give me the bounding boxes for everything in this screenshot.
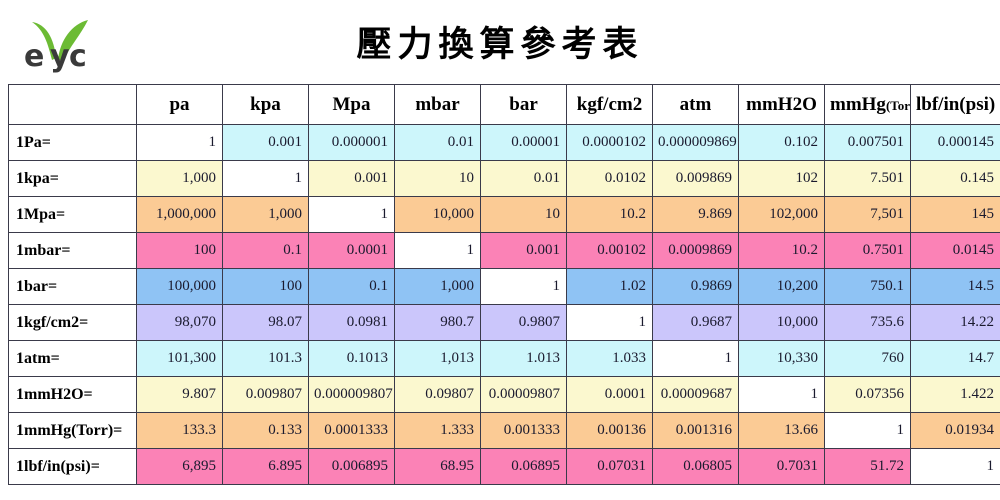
- table-cell: 0.0981: [309, 305, 395, 341]
- row-label: 1mbar=: [9, 233, 137, 269]
- table-cell: 0.0145: [911, 233, 1000, 269]
- table-cell: 101,300: [137, 341, 223, 377]
- table-cell: 14.5: [911, 269, 1000, 305]
- table-cell: 0.01: [481, 161, 567, 197]
- table-cell: 0.001333: [481, 413, 567, 449]
- column-header-pa: pa: [137, 85, 223, 125]
- row-label: 1Pa=: [9, 125, 137, 161]
- table-cell: 0.133: [223, 413, 309, 449]
- table-cell: 0.00102: [567, 233, 653, 269]
- table-cell: 0.06895: [481, 449, 567, 485]
- row-label: 1atm=: [9, 341, 137, 377]
- table-cell: 760: [825, 341, 911, 377]
- table-cell-identity: 1: [911, 449, 1000, 485]
- table-row: 1kgf/cm2=98,07098.070.0981980.70.980710.…: [9, 305, 1000, 341]
- table-cell: 10,000: [395, 197, 481, 233]
- column-header-mmhg-sub: (Torr): [886, 98, 911, 113]
- table-cell: 0.001: [481, 233, 567, 269]
- table-cell: 0.000001: [309, 125, 395, 161]
- table-cell-identity: 1: [481, 269, 567, 305]
- page-title: 壓力換算參考表: [0, 16, 1000, 67]
- table-cell: 0.0000102: [567, 125, 653, 161]
- table-cell: 100,000: [137, 269, 223, 305]
- table-cell: 0.9687: [653, 305, 739, 341]
- conversion-table-container: pa kpa Mpa mbar bar kgf/cm2 atm mmH2O mm…: [8, 84, 992, 485]
- table-cell: 0.9807: [481, 305, 567, 341]
- table-cell: 98,070: [137, 305, 223, 341]
- table-cell: 0.000145: [911, 125, 1000, 161]
- column-header-mmhg: mmHg(Torr): [825, 85, 911, 125]
- column-header-lbfin: lbf/in(psi): [911, 85, 1000, 125]
- table-cell-identity: 1: [825, 413, 911, 449]
- table-row: 1Mpa=1,000,0001,000110,0001010.29.869102…: [9, 197, 1000, 233]
- table-cell: 100: [137, 233, 223, 269]
- table-cell: 102: [739, 161, 825, 197]
- table-cell: 6,895: [137, 449, 223, 485]
- table-cell: 0.7501: [825, 233, 911, 269]
- table-cell: 9.807: [137, 377, 223, 413]
- table-cell: 0.1: [223, 233, 309, 269]
- table-cell: 1,000: [137, 161, 223, 197]
- table-cell: 0.1: [309, 269, 395, 305]
- table-cell: 7.501: [825, 161, 911, 197]
- table-cell: 6.895: [223, 449, 309, 485]
- table-cell: 0.007501: [825, 125, 911, 161]
- table-cell: 13.66: [739, 413, 825, 449]
- pressure-conversion-table: pa kpa Mpa mbar bar kgf/cm2 atm mmH2O mm…: [8, 84, 1000, 485]
- table-cell-identity: 1: [395, 233, 481, 269]
- table-cell: 51.72: [825, 449, 911, 485]
- row-label: 1Mpa=: [9, 197, 137, 233]
- column-header-mpa: Mpa: [309, 85, 395, 125]
- table-cell: 0.0001333: [309, 413, 395, 449]
- table-cell: 0.009869: [653, 161, 739, 197]
- table-cell: 0.009807: [223, 377, 309, 413]
- table-cell: 1.02: [567, 269, 653, 305]
- row-label: 1bar=: [9, 269, 137, 305]
- table-cell: 0.07031: [567, 449, 653, 485]
- table-cell: 1.422: [911, 377, 1000, 413]
- table-cell: 0.00009687: [653, 377, 739, 413]
- table-cell: 0.00009807: [481, 377, 567, 413]
- table-cell-identity: 1: [653, 341, 739, 377]
- table-cell: 1.013: [481, 341, 567, 377]
- table-cell: 10: [481, 197, 567, 233]
- table-cell: 10.2: [739, 233, 825, 269]
- table-cell: 0.00001: [481, 125, 567, 161]
- table-cell: 0.01934: [911, 413, 1000, 449]
- table-cell: 0.0102: [567, 161, 653, 197]
- table-cell: 0.00136: [567, 413, 653, 449]
- table-cell: 14.7: [911, 341, 1000, 377]
- column-header-kgfcm2: kgf/cm2: [567, 85, 653, 125]
- row-label: 1lbf/in(psi)=: [9, 449, 137, 485]
- row-label: 1kpa=: [9, 161, 137, 197]
- table-cell: 145: [911, 197, 1000, 233]
- table-cell: 0.9869: [653, 269, 739, 305]
- table-cell: 0.000009807: [309, 377, 395, 413]
- column-header-bar: bar: [481, 85, 567, 125]
- table-cell: 98.07: [223, 305, 309, 341]
- table-cell: 980.7: [395, 305, 481, 341]
- table-cell: 0.07356: [825, 377, 911, 413]
- table-cell: 1,000: [395, 269, 481, 305]
- table-cell: 0.0001: [309, 233, 395, 269]
- table-cell: 1,000,000: [137, 197, 223, 233]
- table-cell: 0.145: [911, 161, 1000, 197]
- table-cell-identity: 1: [309, 197, 395, 233]
- table-cell: 0.01: [395, 125, 481, 161]
- table-cell: 0.0009869: [653, 233, 739, 269]
- table-cell: 102,000: [739, 197, 825, 233]
- table-row: 1mmH2O=9.8070.0098070.0000098070.098070.…: [9, 377, 1000, 413]
- table-cell: 10,000: [739, 305, 825, 341]
- table-cell: 0.000009869: [653, 125, 739, 161]
- table-cell: 750.1: [825, 269, 911, 305]
- table-cell: 10,330: [739, 341, 825, 377]
- table-cell: 0.001: [309, 161, 395, 197]
- table-cell: 1,013: [395, 341, 481, 377]
- table-cell: 133.3: [137, 413, 223, 449]
- column-header-kpa: kpa: [223, 85, 309, 125]
- table-cell: 0.1013: [309, 341, 395, 377]
- table-cell: 1.333: [395, 413, 481, 449]
- table-row: 1mbar=1000.10.000110.0010.001020.0009869…: [9, 233, 1000, 269]
- column-header-mmh2o: mmH2O: [739, 85, 825, 125]
- table-row: 1atm=101,300101.30.10131,0131.0131.03311…: [9, 341, 1000, 377]
- table-row: 1kpa=1,00010.001100.010.01020.0098691027…: [9, 161, 1000, 197]
- table-row: 1lbf/in(psi)=6,8956.8950.00689568.950.06…: [9, 449, 1000, 485]
- table-header-row: pa kpa Mpa mbar bar kgf/cm2 atm mmH2O mm…: [9, 85, 1000, 125]
- table-cell: 101.3: [223, 341, 309, 377]
- column-header-mmhg-main: mmHg: [830, 94, 886, 115]
- row-label: 1mmHg(Torr)=: [9, 413, 137, 449]
- table-cell: 0.06805: [653, 449, 739, 485]
- table-cell: 0.0001: [567, 377, 653, 413]
- table-cell-identity: 1: [567, 305, 653, 341]
- table-cell: 1,000: [223, 197, 309, 233]
- table-cell: 0.001: [223, 125, 309, 161]
- table-row: 1bar=100,0001000.11,00011.020.986910,200…: [9, 269, 1000, 305]
- table-cell: 0.001316: [653, 413, 739, 449]
- table-cell: 10,200: [739, 269, 825, 305]
- table-row: 1Pa=10.0010.0000010.010.000010.00001020.…: [9, 125, 1000, 161]
- table-cell: 735.6: [825, 305, 911, 341]
- table-cell: 68.95: [395, 449, 481, 485]
- table-cell: 7,501: [825, 197, 911, 233]
- table-cell: 0.102: [739, 125, 825, 161]
- table-cell: 10.2: [567, 197, 653, 233]
- table-cell: 1.033: [567, 341, 653, 377]
- table-corner-cell: [9, 85, 137, 125]
- table-cell: 14.22: [911, 305, 1000, 341]
- table-body: 1Pa=10.0010.0000010.010.000010.00001020.…: [9, 125, 1000, 485]
- table-row: 1mmHg(Torr)=133.30.1330.00013331.3330.00…: [9, 413, 1000, 449]
- table-cell-identity: 1: [223, 161, 309, 197]
- table-cell: 0.006895: [309, 449, 395, 485]
- column-header-mbar: mbar: [395, 85, 481, 125]
- table-cell: 0.7031: [739, 449, 825, 485]
- column-header-atm: atm: [653, 85, 739, 125]
- table-cell-identity: 1: [137, 125, 223, 161]
- table-cell: 100: [223, 269, 309, 305]
- table-cell: 0.09807: [395, 377, 481, 413]
- row-label: 1mmH2O=: [9, 377, 137, 413]
- page-header: e y c 壓力換算參考表: [0, 0, 1000, 84]
- row-label: 1kgf/cm2=: [9, 305, 137, 341]
- table-cell-identity: 1: [739, 377, 825, 413]
- table-cell: 9.869: [653, 197, 739, 233]
- table-cell: 10: [395, 161, 481, 197]
